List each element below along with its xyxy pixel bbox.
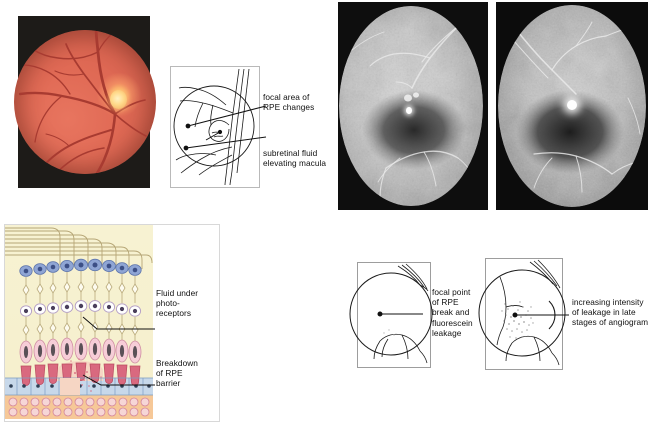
retinal-vessel-tree [14,30,156,174]
hyperfluorescent-spot-late [567,100,577,110]
label-fluid-under-photoreceptors: Fluid under photo- receptors [156,288,218,319]
retina-cross-section-diagram [4,224,220,422]
label-subretinal-fluid-elevating-macula: subretinal fluid elevating macula [263,148,341,168]
fundus-photograph [18,16,150,188]
label-increasing-intensity-late-leakage: increasing intensity of leakage in late … [572,297,650,328]
rpe-break-gap [60,378,80,395]
angiogram-early-image [338,2,488,210]
label-focal-area-rpe-changes: focal area of RPE changes [263,92,335,112]
fluorescein-angiogram-early [338,2,488,210]
hyperfluorescent-spot-early [406,107,412,114]
fluorescein-angiogram-late [496,2,648,210]
label-breakdown-of-rpe-barrier: Breakdown of RPE barrier [156,358,218,389]
optic-disc [110,90,127,109]
retina-cell-schematic [5,225,217,419]
schematic-late-leader [485,258,585,368]
schematic-leader-lines [170,66,330,190]
